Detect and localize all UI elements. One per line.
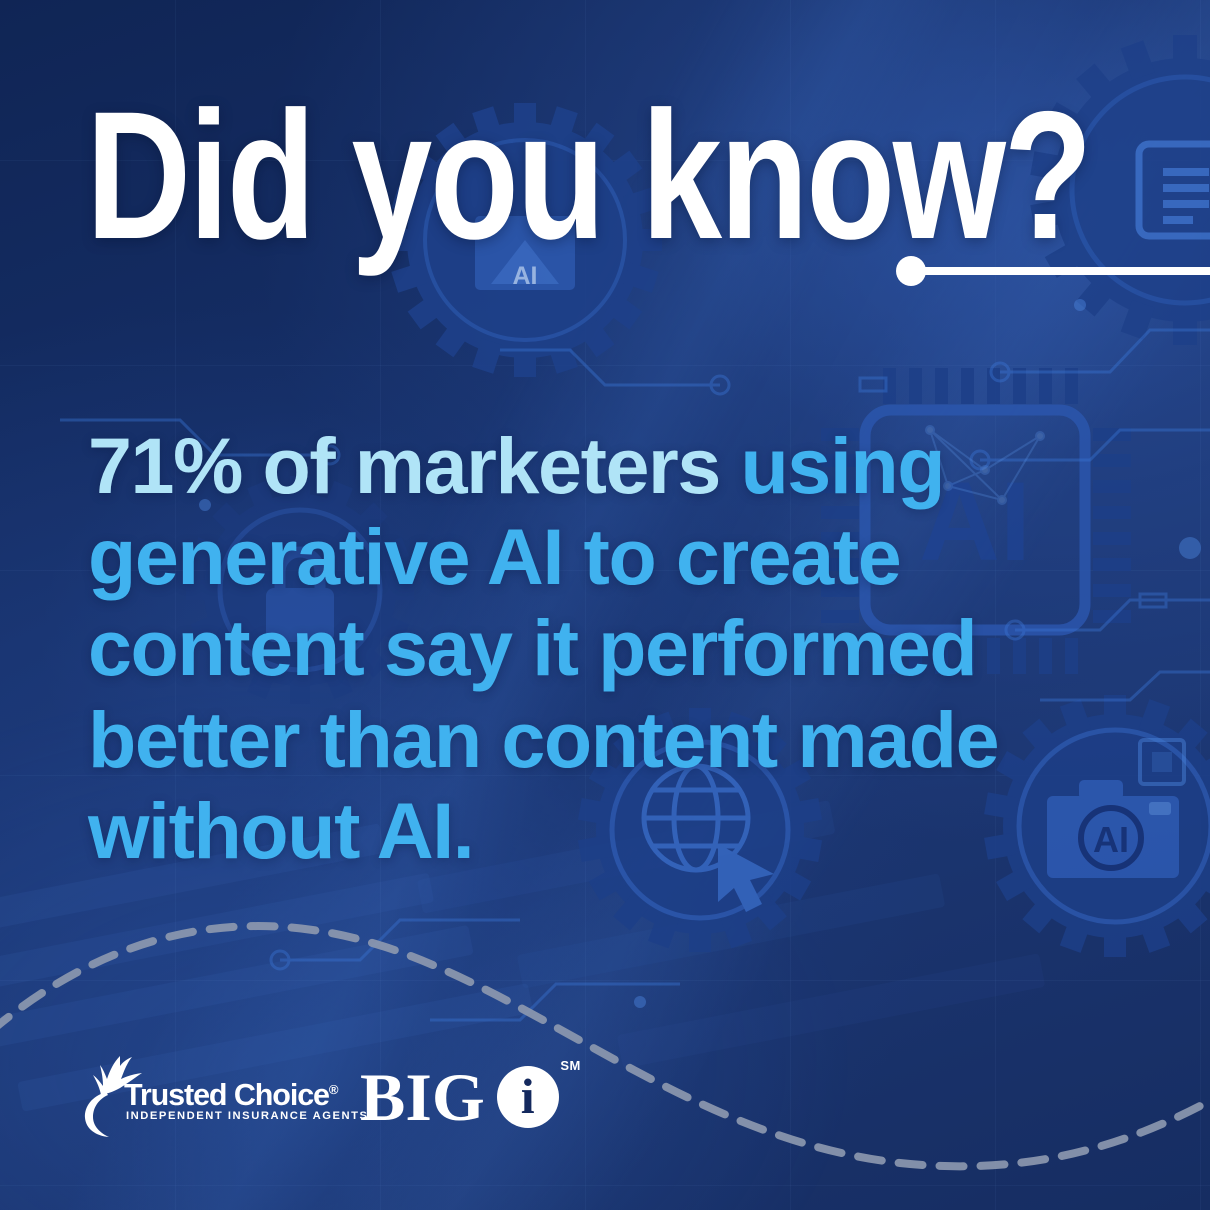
- big-i-badge: i: [497, 1066, 559, 1128]
- logo-lockup: Trusted Choice® INDEPENDENT INSURANCE AG…: [80, 1056, 559, 1138]
- trusted-choice-wordmark: Trusted Choice: [124, 1078, 329, 1112]
- big-i-badge-letter: i: [521, 1071, 535, 1121]
- service-mark: SM: [560, 1058, 580, 1073]
- graphic-canvas: AI: [0, 0, 1210, 1210]
- big-i-logo: BIG i SM: [360, 1056, 559, 1138]
- dashed-swoosh-line: [0, 0, 1210, 1210]
- trusted-choice-tagline: INDEPENDENT INSURANCE AGENTS: [126, 1110, 369, 1122]
- big-i-wordmark: BIG: [360, 1063, 485, 1131]
- registered-mark: ®: [329, 1082, 339, 1097]
- trusted-choice-logo: Trusted Choice® INDEPENDENT INSURANCE AG…: [80, 1056, 308, 1138]
- trusted-choice-name: Trusted Choice®: [124, 1078, 339, 1113]
